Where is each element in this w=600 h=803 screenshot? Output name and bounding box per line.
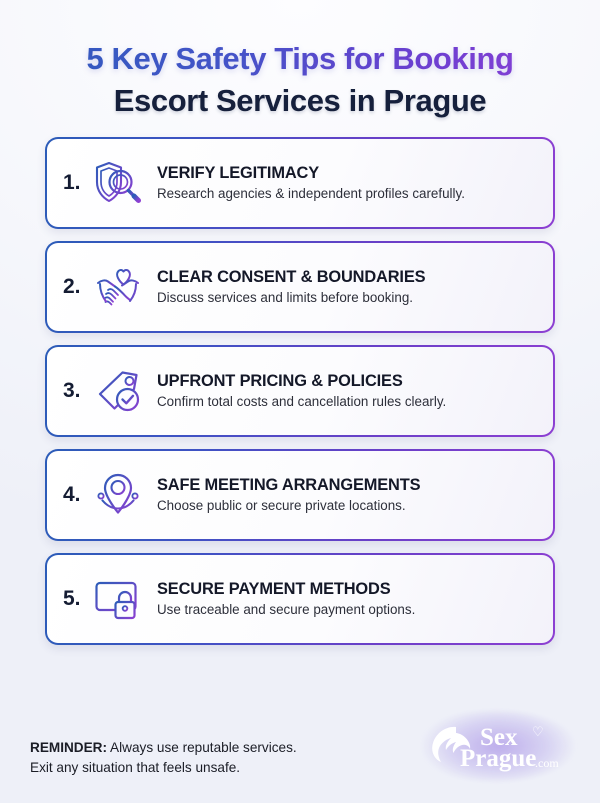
tip-card-2-text: CLEAR CONSENT & BOUNDARIES Discuss servi… bbox=[157, 268, 539, 306]
tip-card-1-body: 1. bbox=[47, 139, 553, 227]
tip-title-4: SAFE MEETING ARRANGEMENTS bbox=[157, 476, 539, 495]
tip-card-5-body: 5. bbox=[47, 555, 553, 643]
tip-card-2[interactable]: 2. bbox=[45, 241, 555, 333]
logo-heart-icon: ♡ bbox=[532, 724, 544, 739]
reminder-line-1: Always use reputable services. bbox=[107, 740, 297, 755]
shield-magnifier-icon bbox=[89, 154, 147, 212]
tip-card-3[interactable]: 3. UPFRONT PRICI bbox=[45, 345, 555, 437]
tip-desc-3: Confirm total costs and cancellation rul… bbox=[157, 394, 539, 410]
tip-number-4: 4. bbox=[63, 483, 89, 507]
tip-card-3-body: 3. UPFRONT PRICI bbox=[47, 347, 553, 435]
credit-card-lock-icon bbox=[89, 570, 147, 628]
page-footer: REMINDER: Always use reputable services.… bbox=[0, 715, 600, 803]
tip-number-5: 5. bbox=[63, 587, 89, 611]
site-logo[interactable]: Sex ♡ Prague .com bbox=[420, 715, 570, 777]
logo-tld: .com bbox=[535, 756, 559, 770]
tip-card-5[interactable]: 5. bbox=[45, 553, 555, 645]
tip-card-2-body: 2. bbox=[47, 243, 553, 331]
price-tag-check-icon bbox=[89, 362, 147, 420]
page-title-line-2: Escort Services in Prague bbox=[26, 80, 574, 122]
tips-list: 1. bbox=[0, 137, 600, 645]
reminder-label: REMINDER: bbox=[30, 740, 107, 755]
tip-card-5-text: SECURE PAYMENT METHODS Use traceable and… bbox=[157, 580, 539, 618]
location-pin-rope-icon bbox=[89, 466, 147, 524]
handshake-heart-icon bbox=[89, 258, 147, 316]
tip-card-4[interactable]: 4. bbox=[45, 449, 555, 541]
tip-number-3: 3. bbox=[63, 379, 89, 403]
tip-title-2: CLEAR CONSENT & BOUNDARIES bbox=[157, 268, 539, 287]
tip-card-1-text: VERIFY LEGITIMACY Research agencies & in… bbox=[157, 164, 539, 202]
tip-desc-2: Discuss services and limits before booki… bbox=[157, 290, 539, 306]
page-header: 5 Key Safety Tips for Booking Escort Ser… bbox=[0, 0, 600, 121]
tip-desc-4: Choose public or secure private location… bbox=[157, 498, 539, 514]
tip-desc-5: Use traceable and secure payment options… bbox=[157, 602, 539, 618]
tip-card-3-text: UPFRONT PRICING & POLICIES Confirm total… bbox=[157, 372, 539, 410]
tip-number-1: 1. bbox=[63, 171, 89, 195]
infographic-page: 5 Key Safety Tips for Booking Escort Ser… bbox=[0, 0, 600, 803]
tip-card-1[interactable]: 1. bbox=[45, 137, 555, 229]
page-title-line-1: 5 Key Safety Tips for Booking bbox=[26, 38, 574, 80]
tip-title-5: SECURE PAYMENT METHODS bbox=[157, 580, 539, 599]
tip-title-3: UPFRONT PRICING & POLICIES bbox=[157, 372, 539, 391]
logo-word-2: Prague bbox=[460, 745, 536, 772]
tip-card-4-text: SAFE MEETING ARRANGEMENTS Choose public … bbox=[157, 476, 539, 514]
tip-number-2: 2. bbox=[63, 275, 89, 299]
reminder-line-2: Exit any situation that feels unsafe. bbox=[30, 760, 240, 775]
reminder-text: REMINDER: Always use reputable services.… bbox=[30, 738, 297, 777]
tip-card-4-body: 4. bbox=[47, 451, 553, 539]
tip-desc-1: Research agencies & independent profiles… bbox=[157, 186, 539, 202]
tip-title-1: VERIFY LEGITIMACY bbox=[157, 164, 539, 183]
